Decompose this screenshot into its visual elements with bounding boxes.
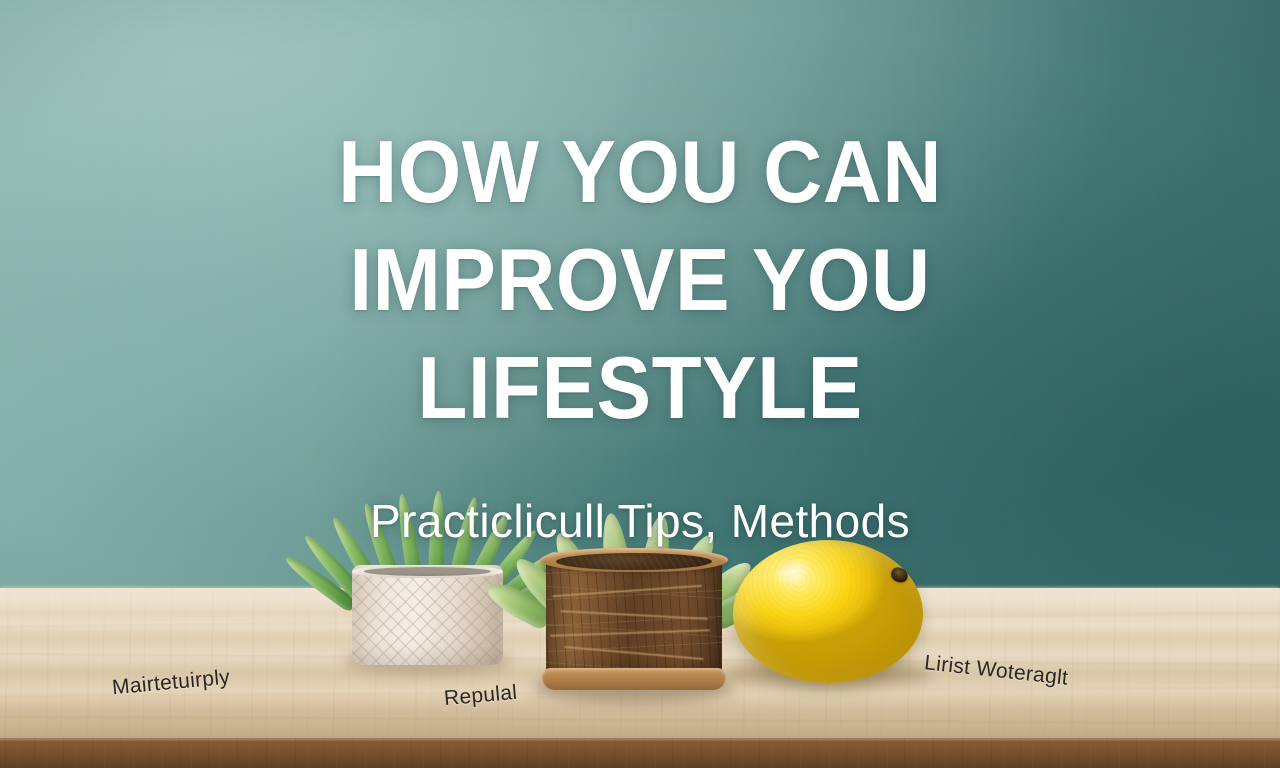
table-edge-grain [0,738,1280,768]
pot-middle [546,556,722,680]
lemon [733,540,923,683]
pot-left-lattice-texture [352,571,503,665]
pot-left [352,565,503,665]
pot-middle-soil-texture [556,553,712,570]
pot-left-soil [364,567,491,576]
poster-canvas: HOW YOU CAN IMPROVE YOU LIFESTYLE Practi… [0,0,1280,768]
pot-middle-base [542,668,726,690]
lemon-peel-texture [733,540,923,683]
